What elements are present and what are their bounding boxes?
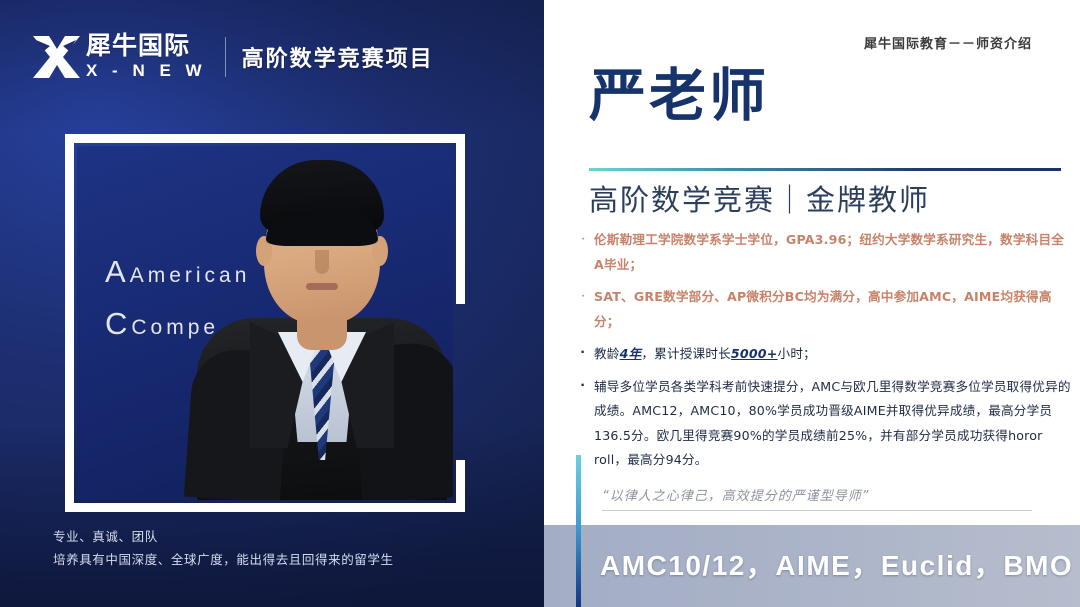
bullet-dot-icon: ·: [572, 228, 594, 277]
bullet-dot-icon: ·: [572, 342, 594, 367]
photo-frame-left: [65, 134, 74, 512]
photo-frame-right-upper: [456, 134, 465, 304]
teacher-name-heading: 严老师: [589, 68, 769, 125]
photo-frame-bottom: [65, 503, 465, 512]
portrait-hair: [260, 160, 384, 232]
photo-frame-right-lower: [456, 460, 465, 512]
exam-banner-text: AMC10/12，AIME，Euclid，BMO: [600, 544, 1073, 584]
left-navy-panel: 犀牛国际 X - N E W 高阶数学竞赛项目 AAmerican CCompe: [0, 0, 544, 607]
bullet-text: SAT、GRE数学部分、AP微积分BC均为满分，高中参加AMC，AIME均获得高…: [594, 285, 1072, 334]
caption-line-1: 专业、真诚、团队: [53, 525, 394, 548]
slide-root: 犀牛国际 X - N E W 高阶数学竞赛项目 AAmerican CCompe: [0, 0, 1080, 607]
portrait-nose: [315, 250, 329, 274]
bullet-text: 辅导多位学员各类学科考前快速提分，AMC与欧几里得数学竞赛多位学员取得优异的成绩…: [594, 375, 1072, 473]
list-item: · 教龄4年，累计授课时长5000+小时；: [572, 342, 1072, 367]
x-new-rhino-logo-icon: [30, 32, 82, 82]
highlight-years: 4年: [620, 346, 642, 361]
teacher-quote: “以律人之心律己，高效提分的严谨型导师”: [602, 485, 1032, 511]
brand-wordmark: 犀牛国际 X - N E W: [86, 33, 207, 82]
teacher-portrait: [197, 146, 447, 500]
teacher-photo-card: AAmerican CCompe: [65, 134, 465, 512]
section-kicker: 犀牛国际教育－－师资介绍: [864, 33, 1032, 52]
bullet-prefix: 教龄: [594, 346, 620, 361]
credentials-list: · 伦斯勒理工学院数学系学士学位，GPA3.96；纽约大学数学系研究生，数学科目…: [572, 228, 1072, 481]
logo-divider: [225, 37, 226, 77]
list-item: · 伦斯勒理工学院数学系学士学位，GPA3.96；纽约大学数学系研究生，数学科目…: [572, 228, 1072, 277]
bullet-dot-icon: ·: [572, 285, 594, 334]
list-item: · SAT、GRE数学部分、AP微积分BC均为满分，高中参加AMC，AIME均获…: [572, 285, 1072, 334]
bullet-mid: ，累计授课时长: [641, 346, 731, 361]
bullet-text: 教龄4年，累计授课时长5000+小时；: [594, 342, 1072, 367]
teacher-subtitle: 高阶数学竞赛｜金牌教师: [589, 182, 930, 218]
brand-name-en: X - N E W: [86, 61, 207, 81]
highlight-hours: 5000+: [731, 346, 778, 361]
photo-background: AAmerican CCompe: [77, 146, 453, 500]
photo-frame-top: [65, 134, 465, 143]
bullet-text: 伦斯勒理工学院数学系学士学位，GPA3.96；纽约大学数学系研究生，数学科目全A…: [594, 228, 1072, 277]
program-title: 高阶数学竞赛项目: [242, 41, 434, 73]
list-item: · 辅导多位学员各类学科考前快速提分，AMC与欧几里得数学竞赛多位学员取得优异的…: [572, 375, 1072, 473]
caption-line-2: 培养具有中国深度、全球广度，能出得去且回得来的留学生: [53, 548, 394, 571]
left-caption: 专业、真诚、团队 培养具有中国深度、全球广度，能出得去且回得来的留学生: [53, 525, 394, 571]
cyan-accent-line: [576, 455, 581, 607]
portrait-mouth: [306, 283, 338, 290]
brand-logo-block: 犀牛国际 X - N E W 高阶数学竞赛项目: [30, 27, 434, 87]
right-content-panel: 犀牛国际教育－－师资介绍 严老师 高阶数学竞赛｜金牌教师 · 伦斯勒理工学院数学…: [544, 0, 1080, 607]
bullet-suffix: 小时；: [778, 346, 816, 361]
brand-name-cn: 犀牛国际: [86, 33, 207, 59]
title-divider-rule: [589, 168, 1061, 171]
